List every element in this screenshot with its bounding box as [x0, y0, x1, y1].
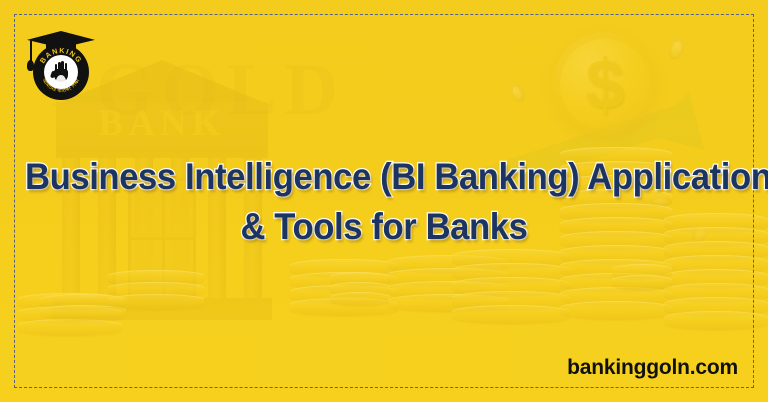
- page-title-line-1: Business Intelligence (BI Banking) Appli…: [25, 152, 743, 202]
- page-title: Business Intelligence (BI Banking) Appli…: [25, 152, 743, 252]
- logo-inner-circle: [44, 55, 78, 89]
- banner-image: GOLD BANK $: [0, 0, 768, 402]
- page-title-line-2: & Tools for Banks: [25, 202, 743, 252]
- logo-badge: BANKING আমাদের ব্যাংকিং শিক্ষা: [33, 44, 89, 100]
- hand-lotus-icon: [50, 60, 72, 84]
- site-watermark: bankinggoln.com: [567, 356, 738, 380]
- site-logo[interactable]: BANKING আমাদের ব্যাংকিং শিক্ষা: [25, 27, 97, 105]
- cap-tassel: [30, 40, 32, 62]
